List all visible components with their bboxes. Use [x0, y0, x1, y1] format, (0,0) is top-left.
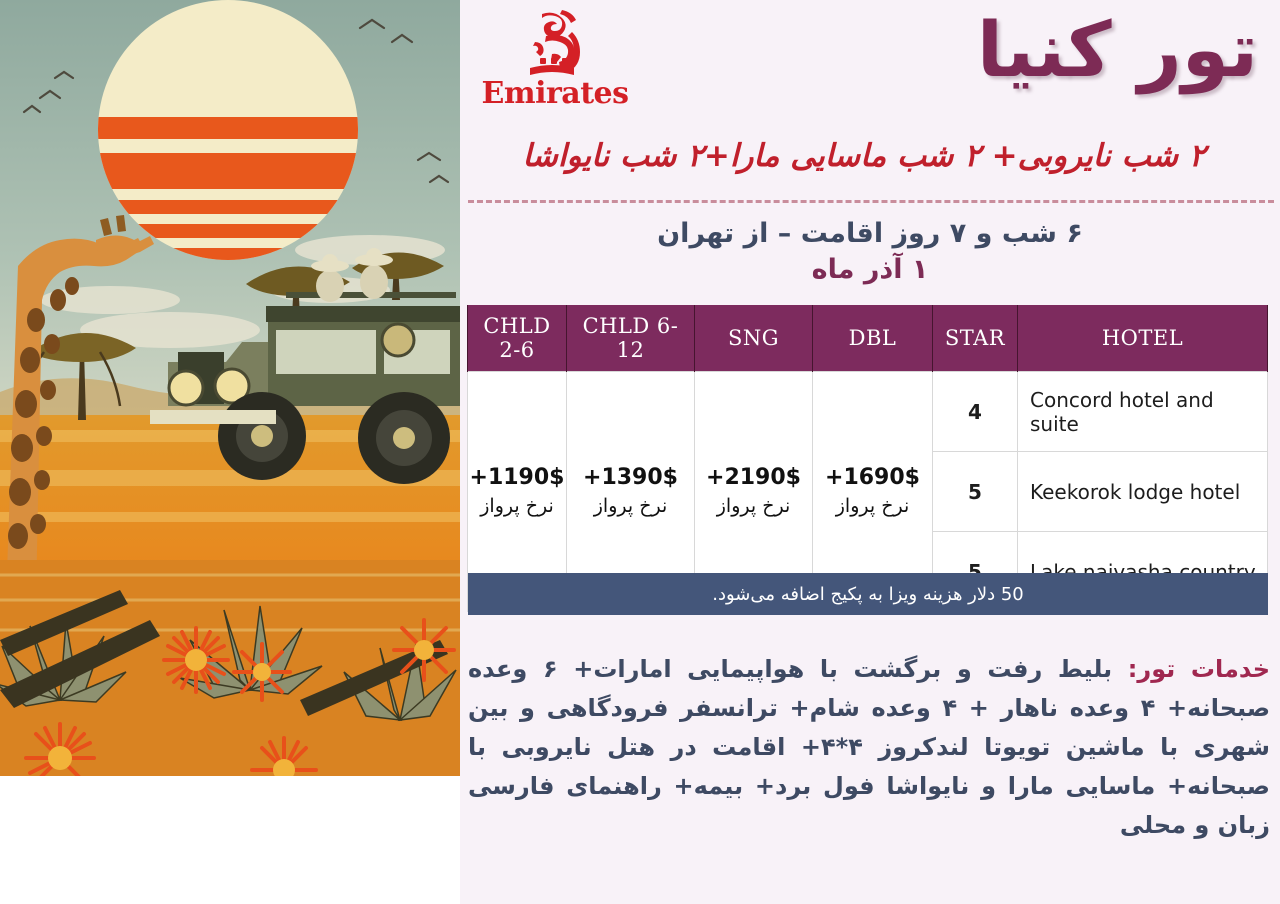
visa-note-text: 50 دلار هزینه ویزا به پکیج اضافه می‌شود.: [712, 584, 1024, 605]
price-dbl-note: نرخ پرواز: [814, 495, 931, 519]
price-sng-amount: 2190$+: [706, 465, 801, 490]
pricing-table-wrap: HOTEL STAR DBL SNG CHLD 6-12 CHLD 2-6 Co…: [468, 305, 1268, 612]
services-label: خدمات تور:: [1128, 655, 1270, 683]
services-block: خدمات تور: بلیط رفت و برگشت با هواپیمایی…: [468, 650, 1270, 844]
hotel-star: 5: [933, 452, 1018, 532]
col-header-sng: SNG: [695, 305, 813, 372]
price-dbl-amount: 1690$+: [825, 465, 920, 490]
table-row: Concord hotel and suite 4 1690$+ نرخ پرو…: [468, 372, 1268, 452]
col-header-chld-2-6: CHLD 2-6: [468, 305, 567, 372]
price-chld26-amount: 1190$+: [470, 465, 565, 490]
duration-block: ۶ شب و ۷ روز اقامت – از تهران ۱ آذر ماه: [470, 216, 1270, 287]
hotel-name: Concord hotel and suite: [1018, 372, 1268, 452]
emirates-calligraphy-icon: [480, 8, 630, 84]
departure-date: ۱ آذر ماه: [470, 252, 1270, 288]
duration-line: ۶ شب و ۷ روز اقامت – از تهران: [470, 216, 1270, 252]
price-chld612-amount: 1390$+: [583, 465, 678, 490]
col-header-hotel: HOTEL: [1018, 305, 1268, 372]
page-title: تور کنیا: [977, 6, 1258, 93]
col-header-chld-6-12: CHLD 6-12: [567, 305, 695, 372]
col-header-star: STAR: [933, 305, 1018, 372]
emirates-logo: Emirates: [480, 8, 630, 118]
hotel-star: 4: [933, 372, 1018, 452]
table-header-row: HOTEL STAR DBL SNG CHLD 6-12 CHLD 2-6: [468, 305, 1268, 372]
emirates-wordmark: Emirates: [480, 76, 630, 111]
price-chld612-note: نرخ پرواز: [568, 495, 693, 519]
itinerary-subtitle: ۲ شب نایروبی+ ۲ شب ماسایی مارا+۲ شب نایو…: [470, 138, 1258, 174]
flyer-root: Emirates تور کنیا ۲ شب نایروبی+ ۲ شب ماس…: [0, 0, 1280, 904]
visa-note-bar: 50 دلار هزینه ویزا به پکیج اضافه می‌شود.: [468, 573, 1268, 615]
safari-artwork: [0, 0, 460, 776]
price-chld26-note: نرخ پرواز: [469, 495, 565, 519]
hotel-name: Keekorok lodge hotel: [1018, 452, 1268, 532]
dashed-divider: [468, 200, 1274, 203]
pricing-table: HOTEL STAR DBL SNG CHLD 6-12 CHLD 2-6 Co…: [467, 305, 1268, 612]
price-sng-note: نرخ پرواز: [696, 495, 811, 519]
col-header-dbl: DBL: [813, 305, 933, 372]
